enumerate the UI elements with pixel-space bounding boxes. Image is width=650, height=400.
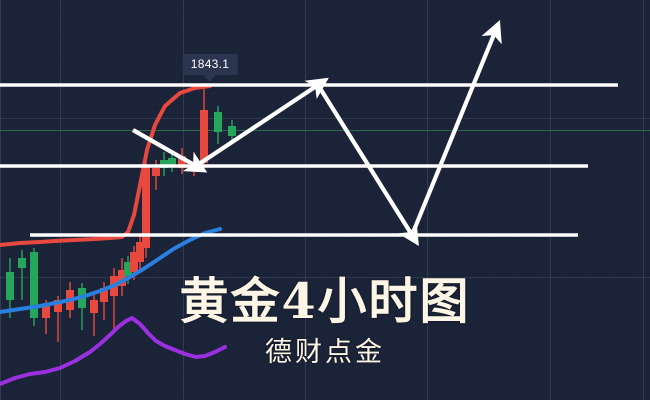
price-marker-label: 1843.1: [183, 54, 238, 75]
forecast-arrow: [196, 85, 318, 166]
price-marker-value: 1843.1: [191, 57, 230, 71]
chart-screenshot: 1843.1 黄金4小时图 德财点金: [0, 0, 650, 400]
forecast-arrow: [412, 32, 495, 235]
price-marker-pointer: [204, 75, 216, 82]
watermark-title: 黄金4小时图: [0, 262, 650, 333]
watermark-subtitle: 德财点金: [0, 330, 650, 369]
forecast-arrow: [318, 85, 412, 235]
forecast-arrow: [133, 130, 196, 166]
